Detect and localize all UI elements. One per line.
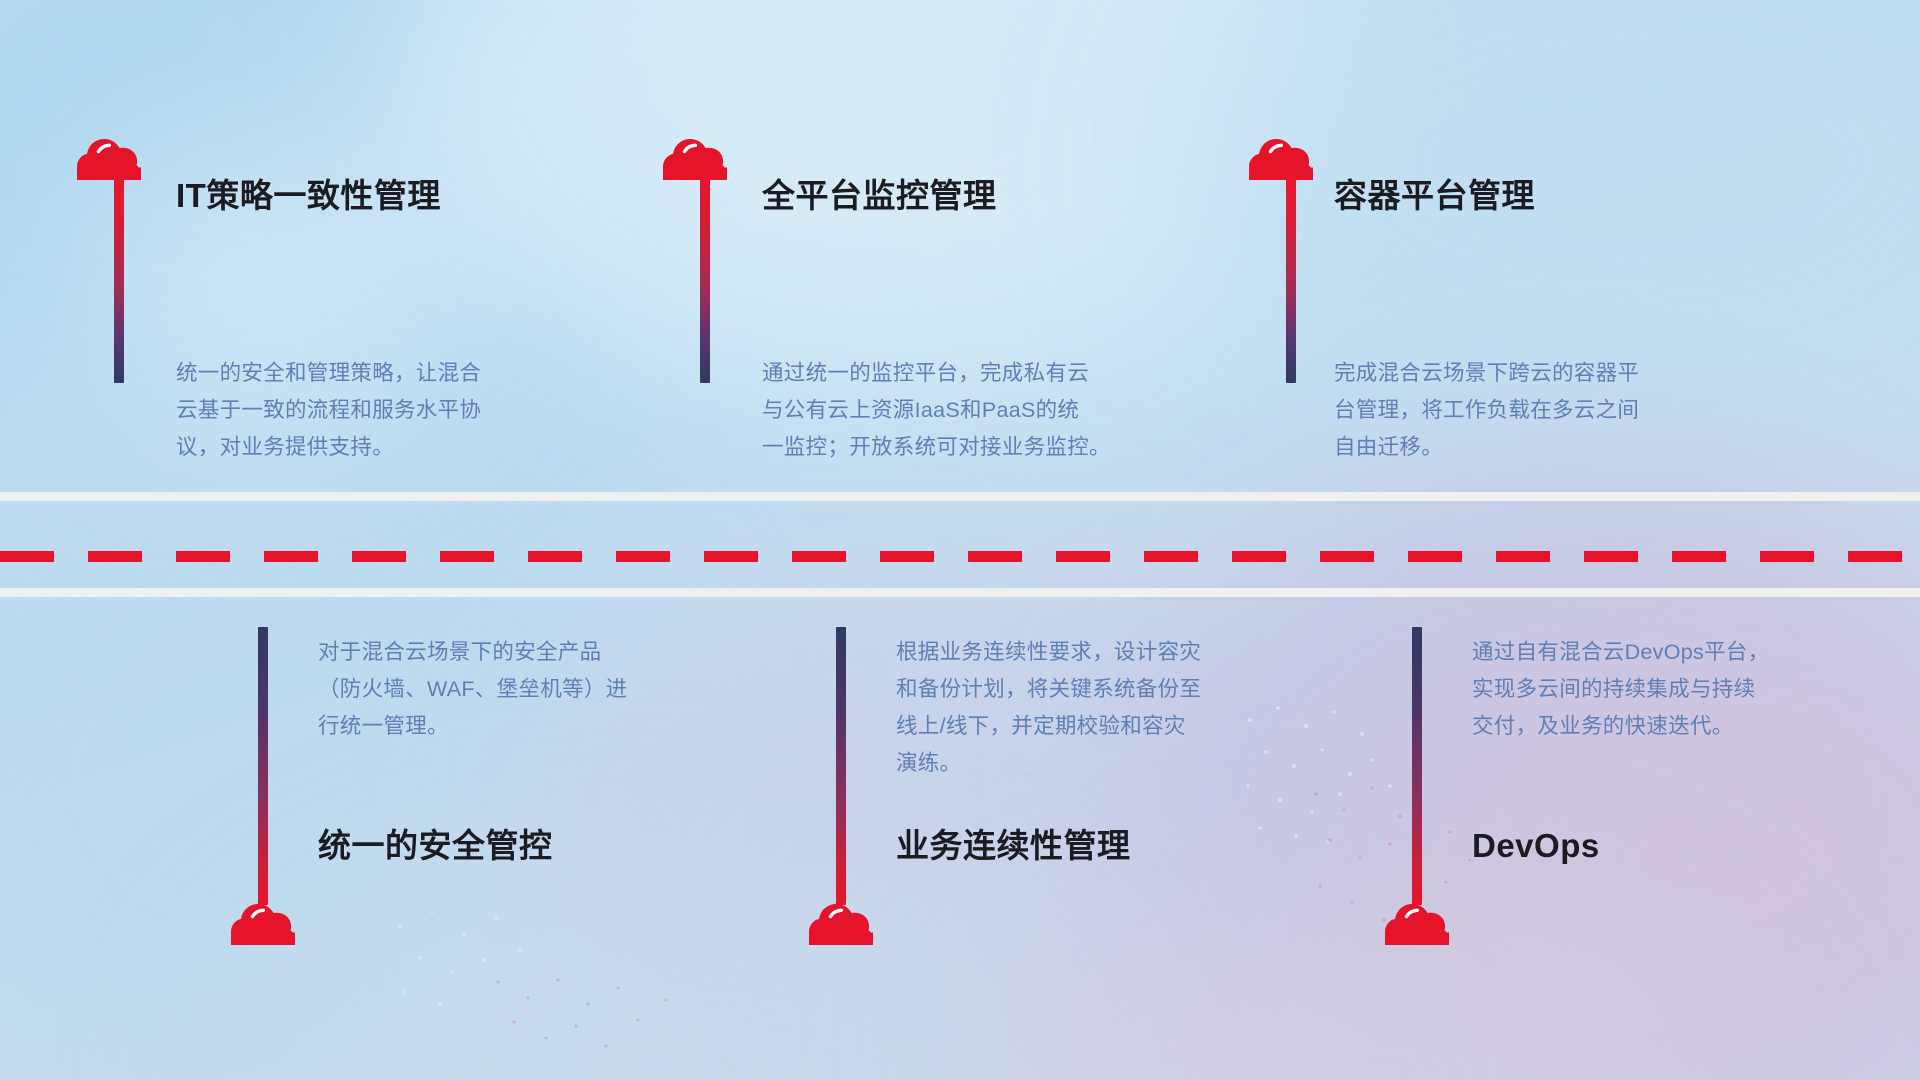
connector-stem <box>1412 627 1422 905</box>
connector-stem <box>1286 172 1296 383</box>
cloud-icon <box>662 133 728 181</box>
desc-line: （防火墙、WAF、堡垒机等）进 <box>318 671 627 708</box>
connector-stem <box>700 172 710 383</box>
card-heading: DevOps <box>1472 826 1600 866</box>
desc-line: 线上/线下，并定期校验和容灾 <box>896 708 1201 745</box>
desc-line: 议，对业务提供支持。 <box>176 429 481 466</box>
card-heading: 全平台监控管理 <box>762 176 997 216</box>
divider-band-top <box>0 492 1920 501</box>
cloud-icon <box>230 898 296 946</box>
connector-stem <box>836 627 846 905</box>
infographic-canvas: IT策略一致性管理 统一的安全和管理策略，让混合 云基于一致的流程和服务水平协 … <box>0 0 1920 1080</box>
desc-line: 对于混合云场景下的安全产品 <box>318 634 627 671</box>
desc-line: 完成混合云场景下跨云的容器平 <box>1334 355 1639 392</box>
cloud-icon <box>1248 133 1314 181</box>
dot-speckle-cluster <box>380 900 600 1020</box>
desc-line: 通过统一的监控平台，完成私有云 <box>762 355 1111 392</box>
desc-line: 实现多云间的持续集成与持续 <box>1472 671 1769 708</box>
card-heading: 容器平台管理 <box>1334 176 1535 216</box>
desc-line: 和备份计划，将关键系统备份至 <box>896 671 1201 708</box>
cloud-icon <box>808 898 874 946</box>
card-heading: 业务连续性管理 <box>896 826 1131 866</box>
desc-line: 与公有云上资源IaaS和PaaS的统 <box>762 392 1111 429</box>
card-description: 完成混合云场景下跨云的容器平 台管理，将工作负载在多云之间 自由迁移。 <box>1334 355 1639 466</box>
card-description: 对于混合云场景下的安全产品 （防火墙、WAF、堡垒机等）进 行统一管理。 <box>318 634 627 745</box>
card-heading: 统一的安全管控 <box>318 826 553 866</box>
desc-line: 根据业务连续性要求，设计容灾 <box>896 634 1201 671</box>
divider-band-bottom <box>0 588 1920 597</box>
connector-stem <box>258 627 268 905</box>
card-description: 统一的安全和管理策略，让混合 云基于一致的流程和服务水平协 议，对业务提供支持。 <box>176 355 481 466</box>
card-description: 根据业务连续性要求，设计容灾 和备份计划，将关键系统备份至 线上/线下，并定期校… <box>896 634 1201 782</box>
desc-line: 一监控；开放系统可对接业务监控。 <box>762 429 1111 466</box>
desc-line: 台管理，将工作负载在多云之间 <box>1334 392 1639 429</box>
desc-line: 自由迁移。 <box>1334 429 1639 466</box>
desc-line: 通过自有混合云DevOps平台， <box>1472 634 1769 671</box>
card-heading: IT策略一致性管理 <box>176 176 441 216</box>
desc-line: 行统一管理。 <box>318 708 627 745</box>
desc-line: 统一的安全和管理策略，让混合 <box>176 355 481 392</box>
desc-line: 演练。 <box>896 745 1201 782</box>
desc-line: 云基于一致的流程和服务水平协 <box>176 392 481 429</box>
connector-stem <box>114 172 124 383</box>
desc-line: 交付，及业务的快速迭代。 <box>1472 708 1769 745</box>
card-description: 通过统一的监控平台，完成私有云 与公有云上资源IaaS和PaaS的统 一监控；开… <box>762 355 1111 466</box>
dashed-divider <box>0 551 1920 562</box>
cloud-icon <box>76 133 142 181</box>
card-description: 通过自有混合云DevOps平台， 实现多云间的持续集成与持续 交付，及业务的快速… <box>1472 634 1769 745</box>
cloud-icon <box>1384 898 1450 946</box>
